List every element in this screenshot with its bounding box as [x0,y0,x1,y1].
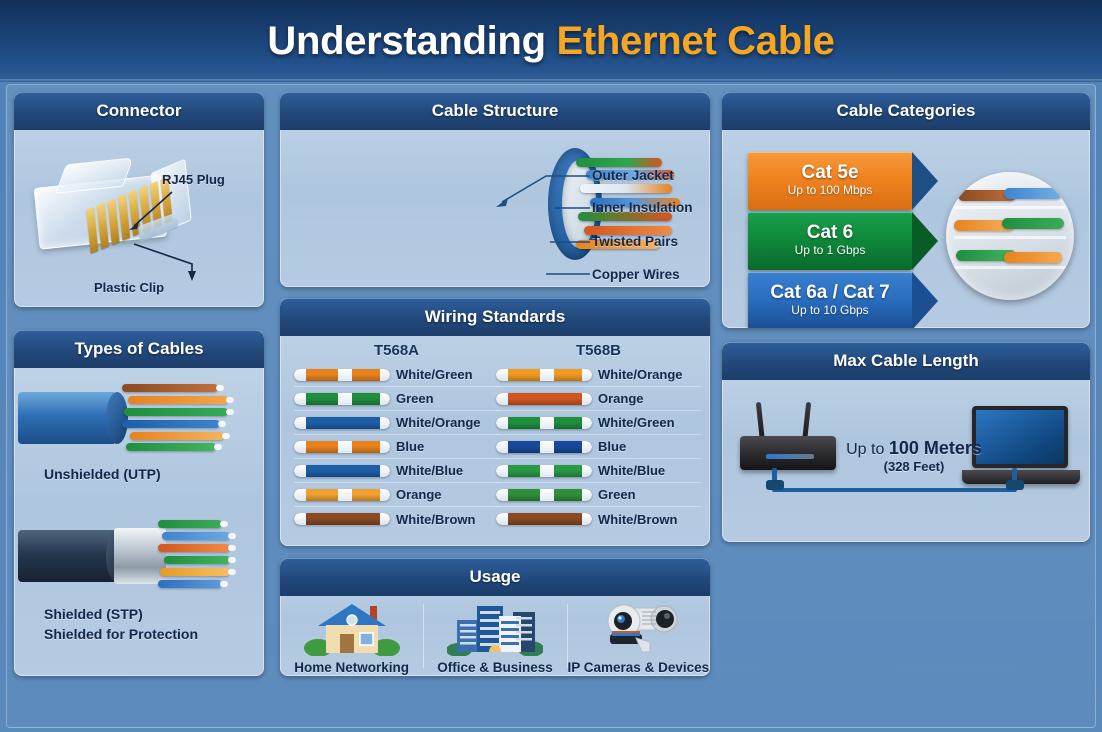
infographic-poster: Understanding Ethernet Cable Connector R… [0,0,1102,732]
title-part-1: Understanding [267,19,556,63]
plastic-clip-leader-line [132,238,202,282]
label-plastic-clip: Plastic Clip [94,280,164,295]
router-ports [766,454,814,459]
page-title: Understanding Ethernet Cable [267,19,834,64]
wire-swatch [496,513,592,525]
max-length-readout: Up to 100 Meters (328 Feet) [844,438,984,474]
panel-cable-categories: Cable Categories Cat 5e Up to 100 Mbps C… [722,92,1090,328]
table-row: White/Blue [496,459,701,483]
panel-structure-title: Cable Structure [432,101,559,121]
usage-label-ip-camera: IP Cameras & Devices [568,660,710,675]
category-arrow-icon [912,212,938,270]
label-rj45-plug: RJ45 Plug [162,172,225,187]
panel-connector-header: Connector [14,92,264,130]
max-length-prefix: Up to [846,441,889,458]
panel-connector: Connector RJ45 Plug Plastic Clip [14,92,264,307]
wire-label: Blue [598,439,626,454]
panel-maxlen-title: Max Cable Length [833,351,978,371]
panel-wiring-standards: Wiring Standards T568A White/Green Green… [280,298,710,546]
usage-item-office: Office & Business [423,596,566,676]
stp-cable-illustration [18,516,228,594]
wire-label: Green [396,391,434,406]
category-name: Cat 6a / Cat 7 [770,283,889,303]
panel-types-title: Types of Cables [74,339,203,359]
panel-maxlen-body: Up to 100 Meters (328 Feet) [722,380,1090,542]
ip-camera-icon [590,598,686,656]
wire-swatch [294,369,390,381]
usage-label-office: Office & Business [437,660,553,675]
patch-connector-right [1006,480,1024,490]
panel-wiring-title: Wiring Standards [425,307,566,327]
max-length-line1: Up to 100 Meters [844,438,984,459]
table-row: White/Brown [294,507,499,531]
wire-swatch [294,393,390,405]
callout-inner-insulation: Inner Insulation [592,200,693,215]
stp-wire-bundle [158,518,244,592]
panel-usage-title: Usage [469,567,520,587]
t568b-wire-rows: White/Orange Orange White/Green Blue Whi… [496,363,701,531]
max-length-value: 100 Meters [889,438,982,458]
wire-label: Orange [396,487,442,502]
max-length-line2: (328 Feet) [844,459,984,474]
category-speed: Up to 100 Mbps [788,183,873,199]
laptop-screen [972,406,1068,468]
wire-swatch [496,369,592,381]
wire-label: White/Brown [396,512,475,527]
panel-cable-structure: Cable Structure Outer Jacket Inner Insul… [280,92,710,287]
callout-twisted-pairs: Twisted Pairs [592,234,678,249]
standard-column-t568b: T568B White/Orange Orange White/Green Bl… [496,342,701,531]
category-speed: Up to 10 Gbps [791,303,868,319]
wire-swatch [294,465,390,477]
table-row: White/Blue [294,459,499,483]
panel-usage: Usage [280,558,710,676]
standard-t568a-title: T568A [294,342,499,359]
wire-label: Orange [598,391,644,406]
category-badge-cat6: Cat 6 Up to 1 Gbps [748,212,912,270]
label-utp: Unshielded (UTP) [44,466,161,482]
usage-item-home: Home Networking [280,596,423,676]
router-device [740,436,836,470]
category-name: Cat 5e [801,163,858,183]
wire-label: White/Blue [396,463,463,478]
table-row: White/Orange [294,411,499,435]
panel-structure-body: Outer Jacket Inner Insulation Twisted Pa… [280,130,710,287]
t568a-wire-rows: White/Green Green White/Orange Blue Whit… [294,363,499,531]
category-arrow-icon [912,152,938,210]
panel-structure-header: Cable Structure [280,92,710,130]
wire-label: Blue [396,439,424,454]
wire-label: White/Brown [598,512,677,527]
title-part-2: Ethernet Cable [557,19,835,63]
table-row: White/Orange [496,363,701,387]
office-building-icon [447,598,543,656]
house-icon [304,598,400,656]
twisted-pair-closeup-inset [946,172,1074,300]
table-row: Green [294,387,499,411]
table-row: Orange [496,387,701,411]
standard-column-t568a: T568A White/Green Green White/Orange Blu… [294,342,499,531]
wire-swatch [496,489,592,501]
category-badge-cat6a-cat7: Cat 6a / Cat 7 Up to 10 Gbps [748,272,912,328]
label-stp-note: Shielded for Protection [44,626,198,642]
structure-leader-lines [476,160,592,287]
stp-outer-jacket [18,530,114,582]
category-arrow-icon [912,272,938,328]
category-speed: Up to 1 Gbps [795,243,866,259]
table-row: Orange [294,483,499,507]
usage-item-ip-camera: IP Cameras & Devices [567,596,710,676]
panel-usage-header: Usage [280,558,710,596]
wire-swatch [496,441,592,453]
wire-label: White/Blue [598,463,665,478]
panel-wiring-body: T568A White/Green Green White/Orange Blu… [280,336,710,546]
wire-swatch [496,465,592,477]
table-row: Green [496,483,701,507]
wire-swatch [294,489,390,501]
patch-connector-left [766,480,784,490]
callout-copper-wires: Copper Wires [592,267,680,282]
wire-label: White/Green [598,415,675,430]
wire-label: Green [598,487,636,502]
utp-wire-bundle [122,380,242,454]
rj45-plug-leader-line [126,188,174,232]
panel-wiring-header: Wiring Standards [280,298,710,336]
panel-types-of-cables: Types of Cables Unshielded (UTP) [14,330,264,676]
usage-items-row: Home Networking [280,596,710,676]
utp-cable-illustration [18,378,228,456]
usage-label-home: Home Networking [294,660,409,675]
poster-title-bar: Understanding Ethernet Cable [0,0,1102,82]
panel-categories-title: Cable Categories [837,101,976,121]
wire-swatch [294,513,390,525]
category-badge-cat5e: Cat 5e Up to 100 Mbps [748,152,912,210]
table-row: Blue [496,435,701,459]
panel-max-cable-length: Max Cable Length Up to 100 Meters (328 F… [722,342,1090,542]
panel-connector-body: RJ45 Plug Plastic Clip [14,130,264,307]
wire-label: White/Orange [396,415,481,430]
panel-usage-body: Home Networking [280,596,710,676]
table-row: White/Brown [496,507,701,531]
panel-maxlen-header: Max Cable Length [722,342,1090,380]
wire-swatch [496,393,592,405]
table-row: Blue [294,435,499,459]
panel-categories-body: Cat 5e Up to 100 Mbps Cat 6 Up to 1 Gbps… [722,130,1090,328]
table-row: White/Green [294,363,499,387]
panel-connector-title: Connector [97,101,182,121]
wire-swatch [496,417,592,429]
wire-label: White/Orange [598,367,683,382]
wire-swatch [294,417,390,429]
standard-t568b-title: T568B [496,342,701,359]
callout-outer-jacket: Outer Jacket [592,168,674,183]
panel-types-header: Types of Cables [14,330,264,368]
category-name: Cat 6 [807,223,853,243]
table-row: White/Green [496,411,701,435]
patch-cable-run [772,488,1016,492]
panel-categories-header: Cable Categories [722,92,1090,130]
wire-swatch [294,441,390,453]
label-stp: Shielded (STP) [44,606,143,622]
wire-label: White/Green [396,367,473,382]
panel-types-body: Unshielded (UTP) Shielded (STP) Shielded… [14,368,264,676]
utp-outer-jacket [18,392,114,444]
